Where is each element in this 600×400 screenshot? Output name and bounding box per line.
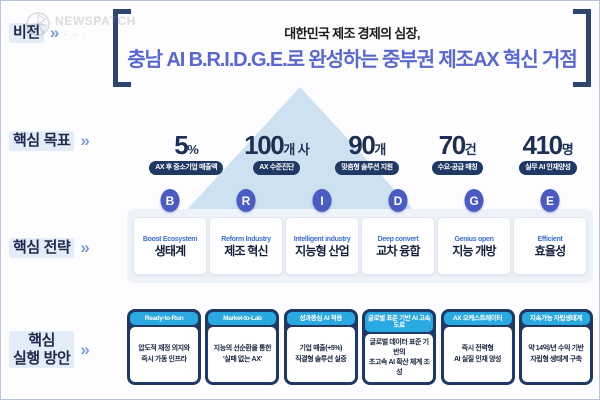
- goal-unit: 개 사: [283, 142, 309, 157]
- action-card-body: 지능의 선순환을 통한 '실패 없는 AX': [208, 327, 276, 382]
- action-card-title: Market-to-Lab: [208, 312, 276, 325]
- strategy-korean-label: 제조 혁신: [224, 245, 268, 257]
- action-card-title: Ready-to-Run: [130, 312, 198, 325]
- strategy-korean-label: 효율성: [535, 245, 566, 257]
- goal-number: 5%: [174, 134, 198, 158]
- row-label-core-strategy: 핵심 전략 »: [9, 238, 86, 258]
- vision-bracket-box: 대한민국 제조 경제의 심장, 충남 AI B.R.I.D.G.E.로 완성하는…: [113, 9, 591, 87]
- action-plan-list: Ready-to-Run 압도적 재정 의지와 즉시 가동 인프라 Market…: [127, 309, 593, 385]
- action-card[interactable]: Ready-to-Run 압도적 재정 의지와 즉시 가동 인프라: [127, 309, 201, 385]
- goal-number: 70건: [439, 134, 477, 158]
- strategy-english-label: Intelligent industry: [294, 236, 351, 243]
- strategy-korean-label: 교차 융합: [376, 245, 420, 257]
- action-card-title: 성과중심 AI 적용: [287, 312, 355, 325]
- vision-headline: 충남 AI B.R.I.D.G.E.로 완성하는 중부권 제조AX 혁신 거점: [113, 43, 591, 72]
- action-card-title: 지속가능 자립생태계: [522, 312, 590, 325]
- core-goals-list: 5% AX 후 중소기업 매출액 100개 사 AX 수준진단 90개 맞춤형 …: [141, 113, 593, 175]
- action-card-body: 기업 매출(+5%) 직결형 솔루션 실증: [287, 327, 355, 382]
- chevron-right-icon: »: [80, 132, 85, 149]
- row-label-action-plan: 핵심 실행 방안 »: [9, 331, 86, 368]
- strategy-card[interactable]: I Intelligent industry 지능형 산업: [285, 217, 359, 275]
- strategy-korean-label: 지능 개방: [452, 245, 496, 257]
- goal-number: 90개: [348, 134, 386, 158]
- bridge-letter-badge: E: [541, 189, 560, 212]
- action-card[interactable]: 지속가능 자립생태계 약 14억/년 수익 기반 자립형 생태계 구축: [519, 309, 593, 385]
- strategy-english-label: Deep convert: [378, 236, 419, 243]
- goal-item: 410명 실무 AI 인재양성: [503, 134, 593, 175]
- action-card-title: 글로벌 표준 기반 AI 고속도로: [365, 312, 433, 332]
- bridge-letter-badge: G: [465, 189, 484, 212]
- strategy-card[interactable]: E Efficient 효율성: [513, 217, 587, 275]
- action-card-body: 즉시 전력형 AI 실질 인재 양성: [444, 327, 512, 382]
- goal-unit: 건: [465, 142, 476, 157]
- strategy-english-label: Genius open: [454, 236, 493, 243]
- goal-number: 100개 사: [244, 134, 309, 158]
- action-card[interactable]: 글로벌 표준 기반 AI 고속도로 글로벌 데이터 표준 기반의 초고속 AI …: [362, 309, 436, 385]
- goal-item: 100개 사 AX 수준진단: [231, 134, 321, 175]
- chevron-right-icon: »: [80, 341, 85, 358]
- strategy-card[interactable]: B Boost Ecosystem 생태계: [133, 217, 207, 275]
- action-card-body: 압도적 재정 의지와 즉시 가동 인프라: [130, 327, 198, 382]
- goal-item: 5% AX 후 중소기업 매출액: [141, 134, 231, 175]
- goal-badge: 맞춤형 솔루션 지원: [335, 161, 398, 175]
- strategy-english-label: Boost Ecosystem: [143, 236, 197, 243]
- vision-subtitle: 대한민국 제조 경제의 심장,: [113, 23, 591, 42]
- strategy-english-label: Efficient: [538, 236, 563, 243]
- bridge-letter-badge: I: [313, 189, 332, 212]
- bridge-letter-badge: R: [237, 189, 256, 212]
- goal-badge: 실무 AI 인재양성: [519, 161, 577, 175]
- strategy-korean-label: 지능형 산업: [295, 245, 349, 257]
- goal-unit: %: [187, 142, 198, 157]
- row-label-core-goals: 핵심 목표 »: [9, 131, 86, 151]
- goal-badge: AX 후 중소기업 매출액: [149, 161, 223, 175]
- goal-badge: AX 수준진단: [253, 161, 300, 175]
- bridge-letter-badge: B: [161, 189, 180, 212]
- goal-badge: 수요-공급 매칭: [432, 161, 484, 175]
- strategy-korean-label: 생태계: [155, 245, 186, 257]
- row-label-core-strategy-text: 핵심 전략: [9, 238, 74, 258]
- row-label-action-plan-text: 핵심 실행 방안: [9, 331, 74, 368]
- action-card[interactable]: Market-to-Lab 지능의 선순환을 통한 '실패 없는 AX': [205, 309, 279, 385]
- action-card-title: AX 오케스트레이터: [444, 312, 512, 325]
- bridge-letter-badge: D: [389, 189, 408, 212]
- row-label-vision-text: 비전: [9, 23, 44, 43]
- strategy-card[interactable]: D Deep convert 교차 융합: [361, 217, 435, 275]
- action-card[interactable]: AX 오케스트레이터 즉시 전력형 AI 실질 인재 양성: [441, 309, 515, 385]
- goal-number: 410명: [523, 134, 574, 158]
- goal-item: 70건 수요-공급 매칭: [412, 134, 502, 175]
- strategy-card[interactable]: R Reform Industry 제조 혁신: [209, 217, 283, 275]
- chevron-right-icon: »: [50, 24, 55, 41]
- action-card[interactable]: 성과중심 AI 적용 기업 매출(+5%) 직결형 솔루션 실증: [284, 309, 358, 385]
- goal-unit: 개: [374, 142, 385, 157]
- goal-item: 90개 맞춤형 솔루션 지원: [322, 134, 412, 175]
- bridge-strategy-list: B Boost Ecosystem 생태계 R Reform Industry …: [127, 209, 593, 283]
- row-label-vision: 비전 »: [9, 23, 55, 43]
- infographic-poster: NEWSPATCH N E W S 비전 » 대한민국 제조 경제의 심장, 충…: [0, 0, 600, 400]
- action-card-body: 글로벌 데이터 표준 기반의 초고속 AI 확산 체계 조성: [365, 334, 433, 382]
- strategy-english-label: Reform Industry: [221, 236, 271, 243]
- goal-unit: 명: [562, 142, 573, 157]
- row-label-core-goals-text: 핵심 목표: [9, 131, 74, 151]
- strategy-card[interactable]: G Genius open 지능 개방: [437, 217, 511, 275]
- chevron-right-icon: »: [80, 239, 85, 256]
- action-card-body: 약 14억/년 수익 기반 자립형 생태계 구축: [522, 327, 590, 382]
